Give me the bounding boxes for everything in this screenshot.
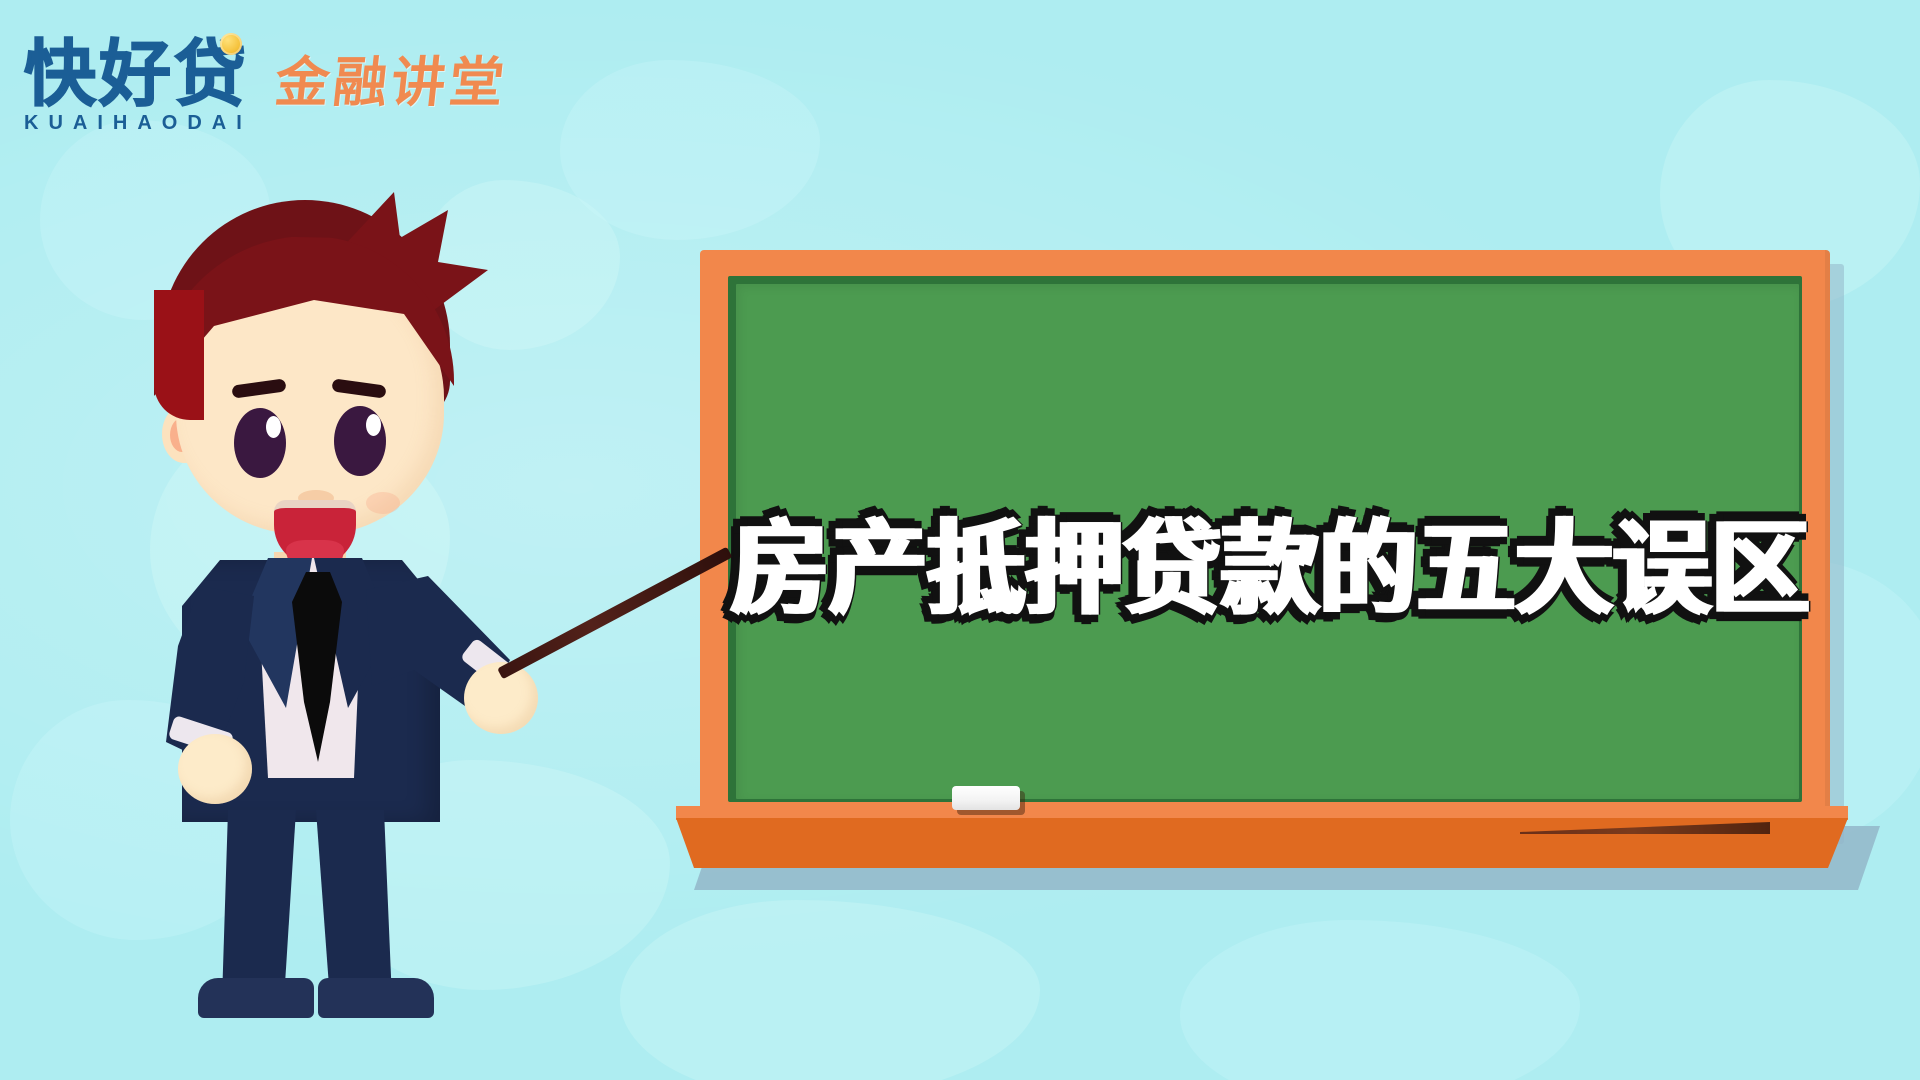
logo-subtitle-text: 金融讲堂 bbox=[272, 38, 512, 117]
leg-left bbox=[222, 810, 296, 1000]
logo-chinese-text: 快好贷 bbox=[24, 39, 252, 110]
cheek-blush bbox=[366, 492, 400, 514]
teacher-character bbox=[70, 200, 590, 1000]
blackboard-title: 房产抵押贷款的五大误区 bbox=[736, 484, 1799, 634]
shoe-left bbox=[198, 978, 314, 1018]
logo-latin-text: KUAIHAODAI bbox=[24, 112, 252, 135]
hair-side bbox=[154, 290, 204, 420]
logo-primary: 快好贷 KUAIHAODAI bbox=[24, 39, 252, 135]
blackboard-ledge bbox=[676, 818, 1848, 868]
held-pointer-icon bbox=[497, 547, 732, 680]
blackboard-surface: 房产抵押贷款的五大误区 房产抵押贷款的五大误区 bbox=[736, 284, 1799, 799]
blackboard-frame: 房产抵押贷款的五大误区 房产抵押贷款的五大误区 bbox=[700, 250, 1830, 830]
eye-highlight-right bbox=[366, 414, 381, 436]
blackboard-inner-edge: 房产抵押贷款的五大误区 房产抵押贷款的五大误区 bbox=[728, 276, 1802, 802]
video-frame: 快好贷 KUAIHAODAI 金融讲堂 房产抵押贷款的五大误区 房产抵押贷款的五… bbox=[0, 0, 1920, 1080]
blackboard-ledge-top bbox=[676, 806, 1848, 820]
blackboard: 房产抵押贷款的五大误区 房产抵押贷款的五大误区 bbox=[700, 250, 1830, 830]
leg-right bbox=[316, 810, 392, 1000]
eye-highlight-left bbox=[266, 416, 281, 438]
brand-logo: 快好贷 KUAIHAODAI 金融讲堂 bbox=[24, 38, 508, 135]
chalk-icon bbox=[952, 786, 1020, 810]
shoe-right bbox=[318, 978, 434, 1018]
hand-left bbox=[178, 734, 252, 804]
